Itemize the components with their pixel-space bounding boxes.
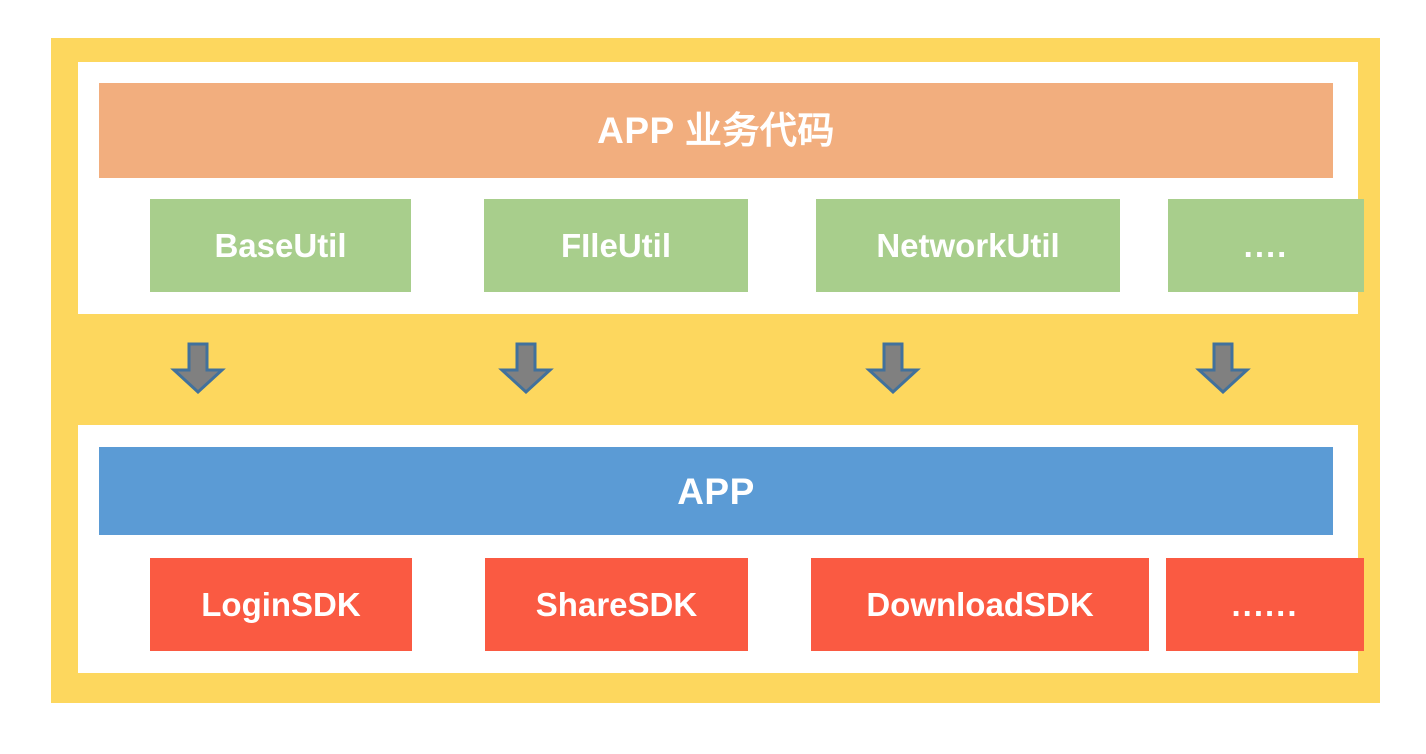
- sdk-modules-row: LoginSDK ShareSDK DownloadSDK ......: [78, 558, 1358, 651]
- arrow-down-more: [1195, 342, 1251, 394]
- module-label-sdk-more: ......: [1231, 588, 1298, 621]
- module-box-networkutil[interactable]: NetworkUtil: [816, 199, 1120, 292]
- module-box-loginsdk[interactable]: LoginSDK: [150, 558, 412, 651]
- module-box-downloadsdk[interactable]: DownloadSDK: [811, 558, 1149, 651]
- arrow-down-fileutil: [498, 342, 554, 394]
- top-layer-panel: APP 业务代码 BaseUtil FIleUtil NetworkUtil .…: [78, 62, 1358, 314]
- module-label-fileutil: FIleUtil: [561, 229, 671, 262]
- module-label-util-more: ....: [1244, 229, 1289, 262]
- app-bar: APP: [99, 447, 1333, 535]
- module-label-downloadsdk: DownloadSDK: [866, 588, 1093, 621]
- app-business-code-bar: APP 业务代码: [99, 83, 1333, 178]
- arrow-down-baseutil: [170, 342, 226, 394]
- arrow-down-networkutil: [865, 342, 921, 394]
- module-box-fileutil[interactable]: FIleUtil: [484, 199, 748, 292]
- app-business-code-label: APP 业务代码: [597, 112, 835, 149]
- module-box-baseutil[interactable]: BaseUtil: [150, 199, 411, 292]
- module-box-sharesdk[interactable]: ShareSDK: [485, 558, 748, 651]
- module-box-sdk-more[interactable]: ......: [1166, 558, 1364, 651]
- app-label: APP: [677, 473, 755, 510]
- diagram-outer-frame: APP 业务代码 BaseUtil FIleUtil NetworkUtil .…: [51, 38, 1380, 703]
- diagram-canvas: APP 业务代码 BaseUtil FIleUtil NetworkUtil .…: [0, 0, 1426, 754]
- util-modules-row: BaseUtil FIleUtil NetworkUtil ....: [78, 199, 1358, 292]
- module-label-networkutil: NetworkUtil: [876, 229, 1059, 262]
- module-label-baseutil: BaseUtil: [214, 229, 346, 262]
- module-label-loginsdk: LoginSDK: [201, 588, 360, 621]
- module-box-util-more[interactable]: ....: [1168, 199, 1364, 292]
- bottom-layer-panel: APP LoginSDK ShareSDK DownloadSDK ......: [78, 425, 1358, 673]
- module-label-sharesdk: ShareSDK: [536, 588, 697, 621]
